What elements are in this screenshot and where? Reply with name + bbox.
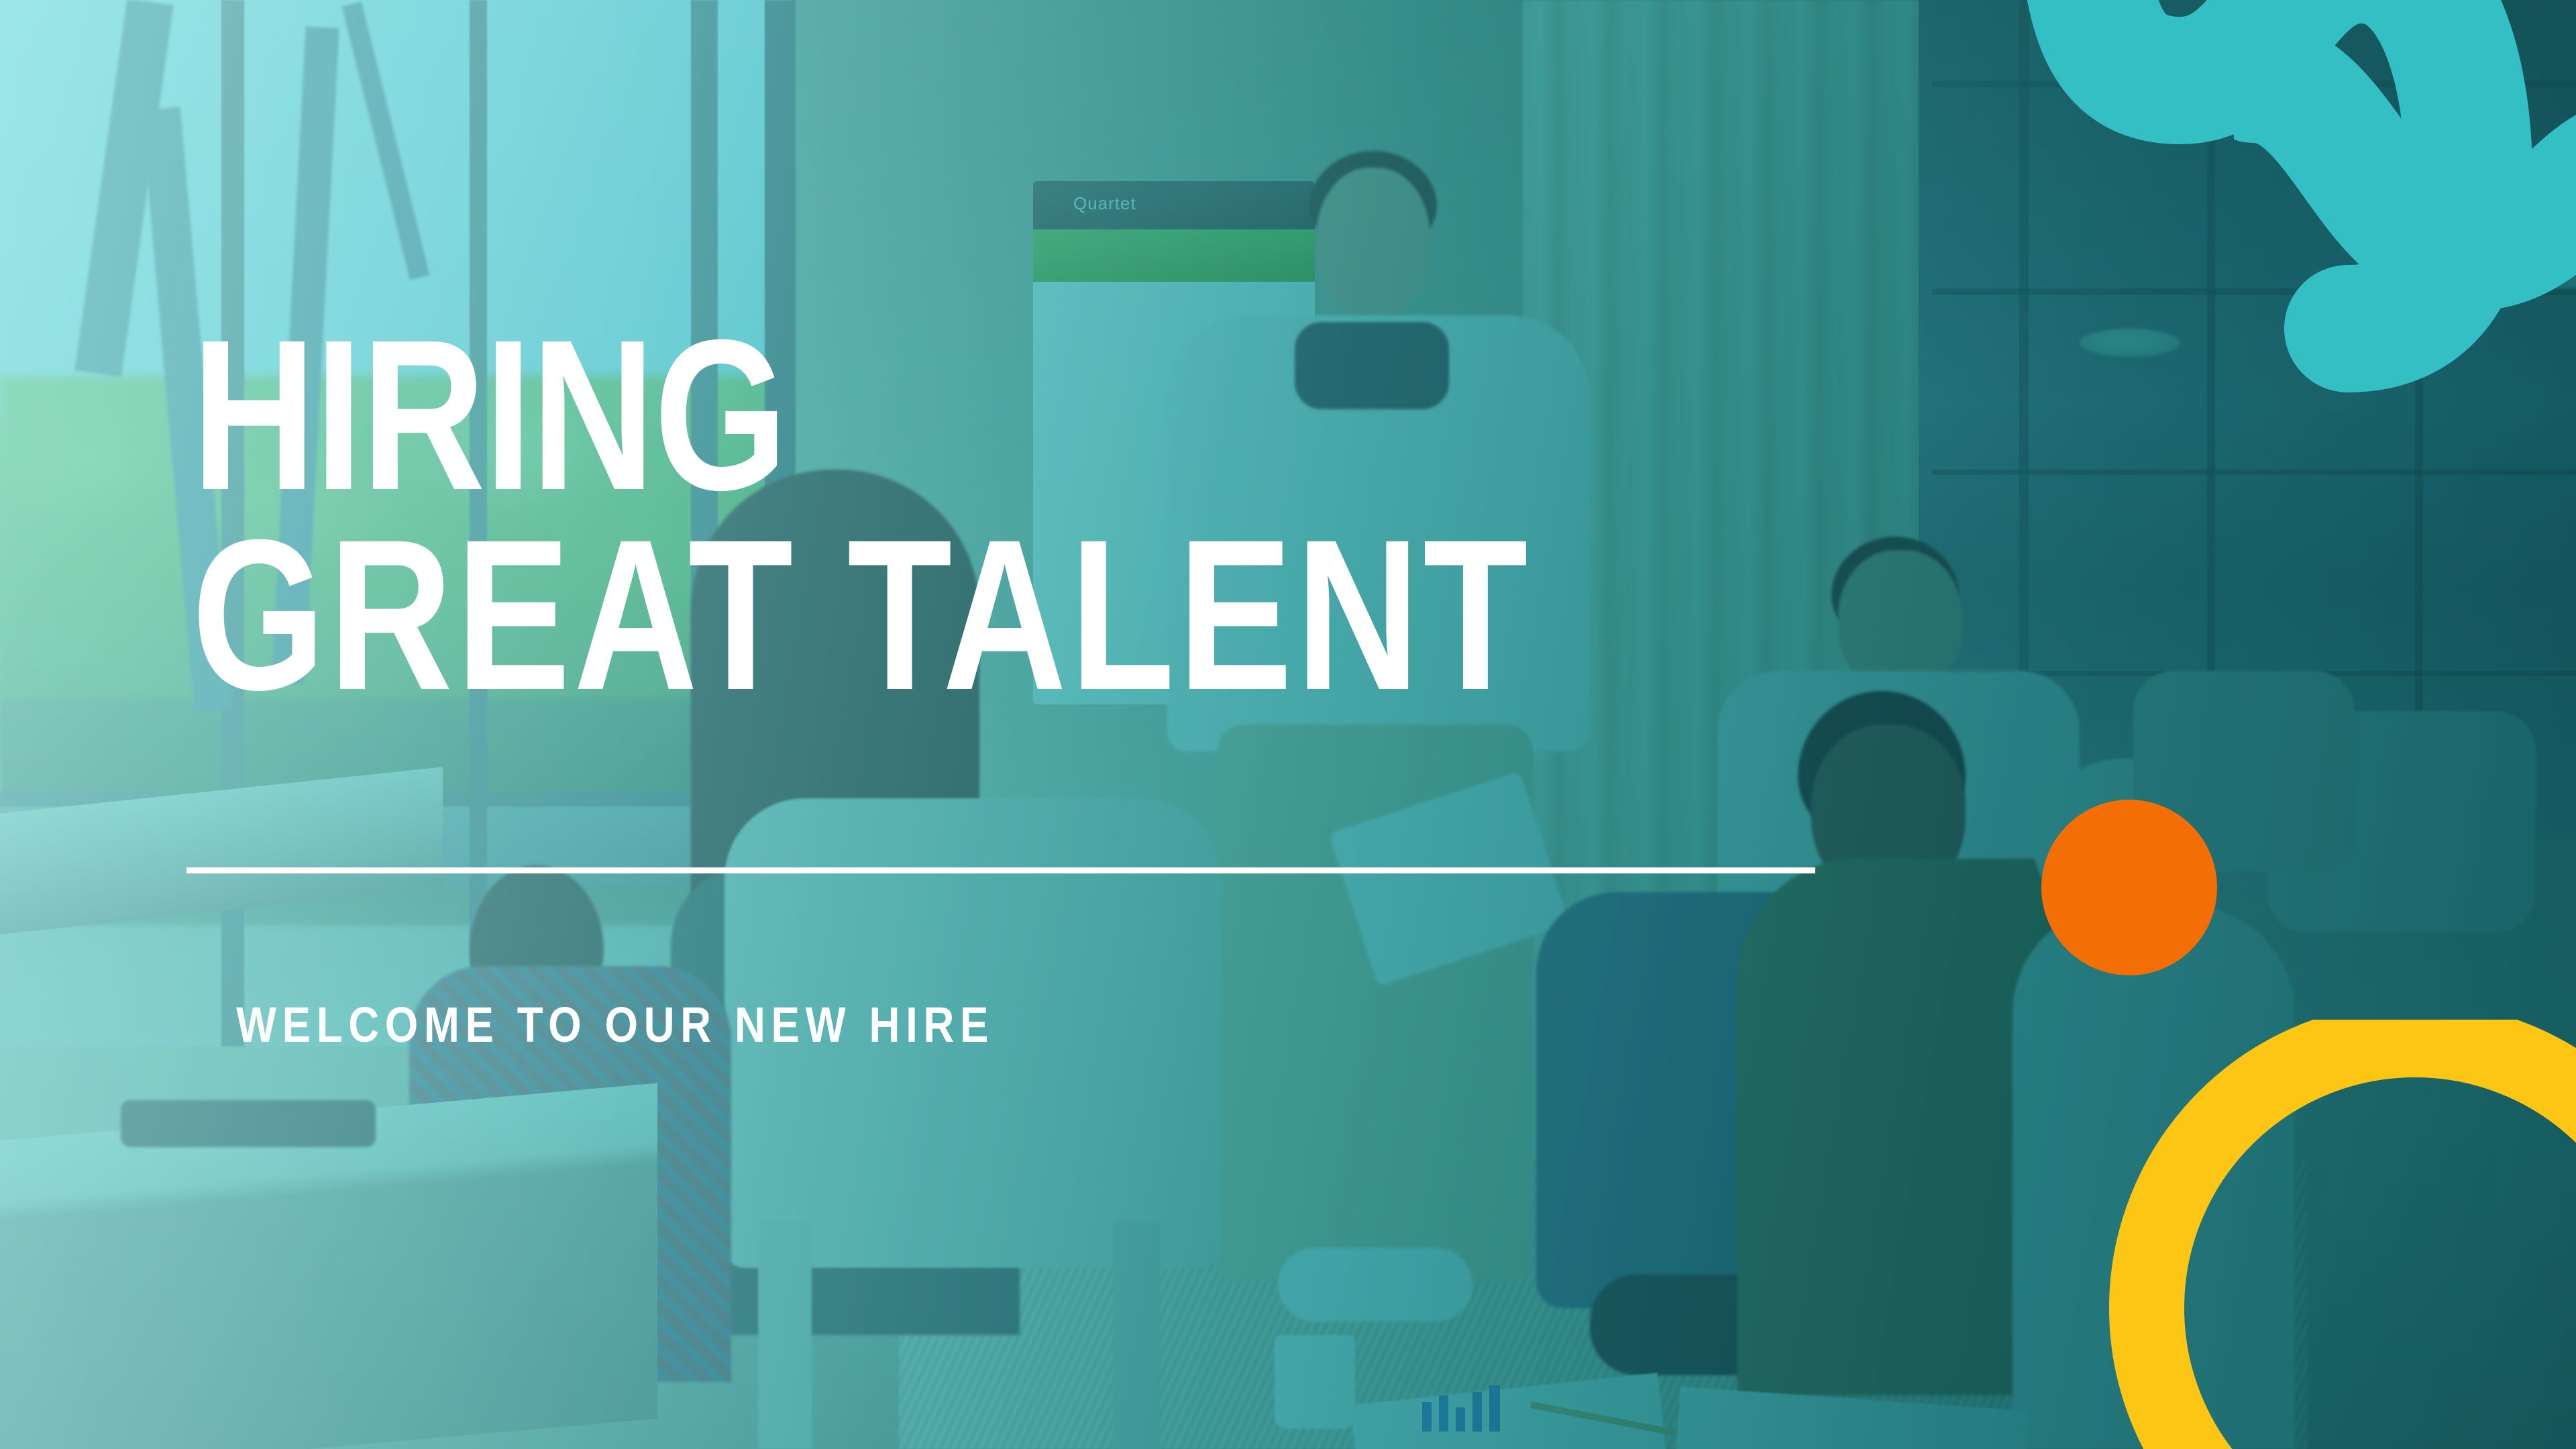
hiring-banner: Quartet [0, 0, 2576, 1449]
divider [186, 867, 1815, 873]
page-title: HIRINGGREAT TALENT [192, 315, 1531, 714]
banner-subtitle: WELCOME TO OUR NEW HIRE [236, 996, 994, 1053]
headline-line-2: GREAT TALENT [192, 515, 1531, 715]
banner-content: HIRINGGREAT TALENT WELCOME TO OUR NEW HI… [0, 0, 2576, 1449]
